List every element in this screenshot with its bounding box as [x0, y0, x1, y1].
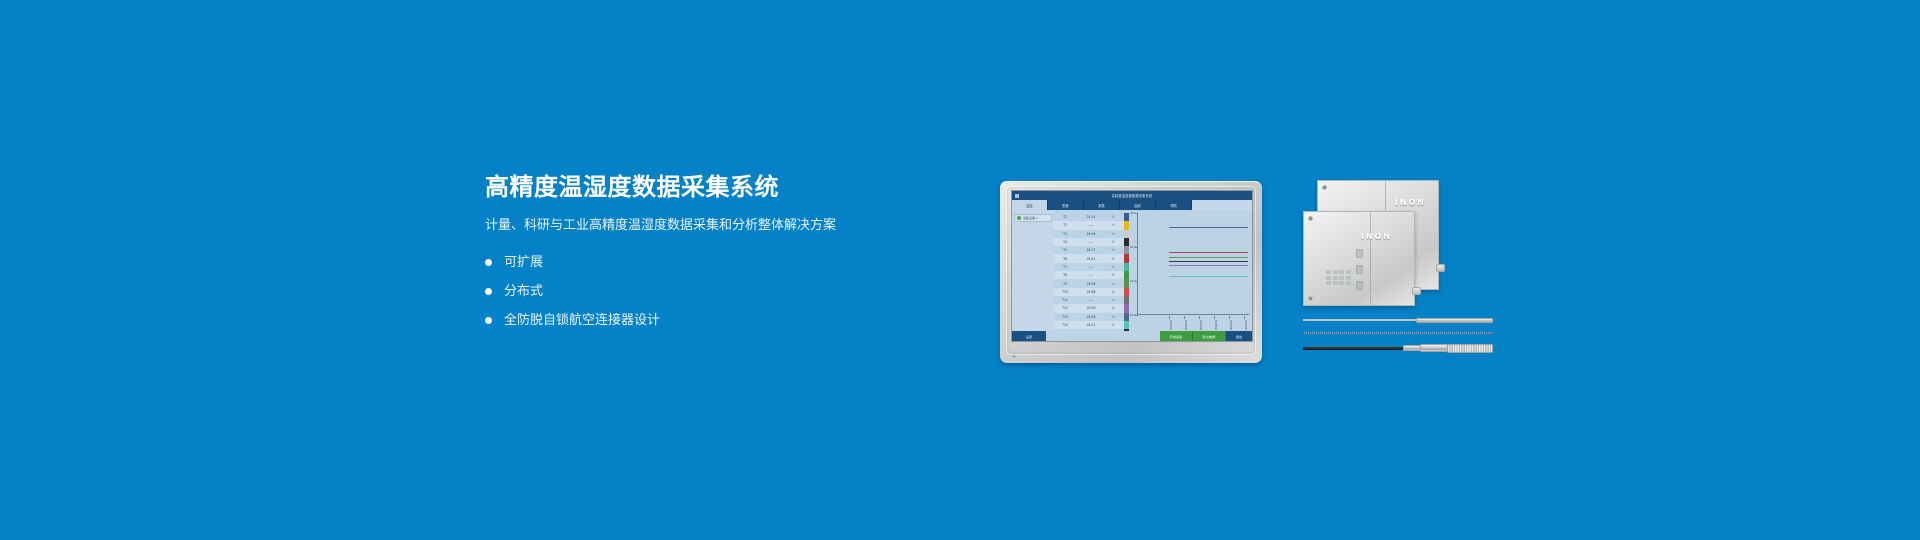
cell-value: ----	[1076, 240, 1106, 244]
cell-unit: ℃	[1106, 298, 1120, 302]
chart-y-axis	[1137, 213, 1138, 315]
chart-x-tick-label: 10:40:00	[1199, 320, 1202, 330]
app-button-bar: 设置 开始采集 导出数据 退出	[1012, 331, 1252, 341]
module-port-icon	[1356, 265, 1363, 274]
feature-bullet-1: 可扩展	[485, 256, 955, 269]
cell-channel: T6	[1054, 257, 1076, 261]
table-row[interactable]: T1024.88℃	[1054, 288, 1124, 296]
cell-unit: ℃	[1106, 265, 1120, 269]
cell-unit: ℃	[1106, 315, 1120, 319]
module-screw-icon	[1322, 185, 1327, 190]
chart-x-tick-label: 10:50:00	[1229, 320, 1232, 330]
probe-cable	[1303, 319, 1423, 321]
table-row[interactable]: T924.98℃	[1054, 279, 1124, 287]
module-screw-icon	[1308, 296, 1313, 301]
probe-cable	[1303, 347, 1407, 350]
connector-collar	[1403, 345, 1421, 351]
start-acquisition-button[interactable]: 开始采集	[1160, 331, 1193, 341]
bullet-dot-icon	[485, 259, 492, 266]
cell-value: 24.28	[1076, 315, 1106, 319]
table-row[interactable]: T1324.28℃	[1054, 313, 1124, 321]
chart-x-tick	[1169, 316, 1170, 319]
table-row[interactable]: T524.72℃	[1054, 246, 1124, 254]
tab-monitor[interactable]: 监控	[1012, 200, 1048, 210]
cell-unit: ℃	[1106, 282, 1120, 286]
module-connector-icon	[1412, 287, 1421, 295]
device-tree-panel: 采集设备-1	[1012, 210, 1054, 331]
chart-series-line	[1169, 276, 1248, 277]
industrial-panel-pc: 高精度温湿度数据采集系统 监控 配置 报表 曲线 帮助 采集设备-1 T125.…	[1000, 181, 1262, 363]
cell-value: 25.31	[1076, 215, 1106, 219]
probe-cable	[1303, 332, 1493, 334]
app-window-title: 高精度温湿度数据采集系统	[1012, 193, 1252, 198]
table-row[interactable]: T7----℃	[1054, 263, 1124, 271]
chart-y-tick	[1135, 281, 1138, 282]
chart-series-line	[1169, 265, 1248, 266]
chart-series-line	[1169, 257, 1248, 258]
device-tree-label: 采集设备-1	[1023, 216, 1038, 220]
cell-unit: ℃	[1106, 257, 1120, 261]
cell-value: 24.99	[1076, 232, 1106, 236]
connector-body	[1420, 344, 1448, 352]
button-bar-spacer	[1046, 331, 1160, 341]
chart-x-tick-label: 10:45:00	[1214, 320, 1217, 330]
table-row[interactable]: T11----℃	[1054, 296, 1124, 304]
module-brand-rear: INON	[1395, 198, 1426, 207]
bullet-dot-icon	[485, 317, 492, 324]
table-row[interactable]: T625.41℃	[1054, 254, 1124, 262]
device-tree-item[interactable]: 采集设备-1	[1014, 214, 1052, 222]
cell-channel: T11	[1054, 298, 1076, 302]
cell-unit: ℃	[1106, 323, 1120, 327]
chart-series-line	[1169, 261, 1248, 262]
cell-unit: ℃	[1106, 306, 1120, 310]
module-screw-icon	[1308, 216, 1313, 221]
probe-aviation-connector	[1303, 343, 1493, 353]
module-connector-icon	[1436, 264, 1445, 272]
acquisition-module-front: INON	[1303, 211, 1415, 306]
chart-x-tick-label: 10:30:00	[1169, 320, 1172, 330]
cell-channel: T5	[1054, 248, 1076, 252]
tab-help[interactable]: 帮助	[1156, 200, 1192, 210]
table-row[interactable]: T4----℃	[1054, 238, 1124, 246]
cell-channel: T12	[1054, 306, 1076, 310]
cell-unit: ℃	[1106, 240, 1120, 244]
connector-knurled-nut	[1447, 344, 1493, 353]
cell-unit: ℃	[1106, 290, 1120, 294]
cell-channel: T14	[1054, 323, 1076, 327]
cell-value: ----	[1076, 298, 1106, 302]
tab-curve[interactable]: 曲线	[1120, 200, 1156, 210]
feature-bullet-3: 全防脱自锁航空连接器设计	[485, 314, 955, 327]
probe-blue-rod	[1303, 331, 1493, 336]
table-row[interactable]: T1225.90℃	[1054, 304, 1124, 312]
bullet-dot-icon	[485, 288, 492, 295]
cell-unit: ℃	[1106, 223, 1120, 227]
chart-x-tick	[1244, 316, 1245, 319]
table-row[interactable]: T1424.11℃	[1054, 321, 1124, 329]
tab-strip-filler	[1192, 200, 1252, 210]
cell-unit: ℃	[1106, 215, 1120, 219]
cell-channel: T7	[1054, 265, 1076, 269]
chart-y-tick	[1135, 315, 1138, 316]
cell-unit: ℃	[1106, 248, 1120, 252]
trend-chart: 25.525.024.524.010:30:0010:35:0010:40:00…	[1129, 210, 1252, 331]
feature-bullet-label: 全防脱自锁航空连接器设计	[504, 314, 660, 327]
chart-y-tick	[1135, 247, 1138, 248]
cell-unit: ℃	[1106, 273, 1120, 277]
feature-bullet-label: 分布式	[504, 285, 543, 298]
cell-unit: ℃	[1106, 232, 1120, 236]
cell-channel: T8	[1054, 273, 1076, 277]
module-port-icon	[1356, 281, 1363, 290]
tab-config[interactable]: 配置	[1048, 200, 1084, 210]
hero-subtitle: 计量、科研与工业高精度温湿度数据采集和分析整体解决方案	[485, 216, 955, 236]
chart-x-tick-label: 10:55:00	[1244, 320, 1247, 330]
table-row[interactable]: T8----℃	[1054, 271, 1124, 279]
exit-button[interactable]: 退出	[1226, 331, 1252, 341]
cell-channel: T2	[1054, 223, 1076, 227]
module-seam	[1370, 212, 1371, 305]
chart-y-tick	[1135, 213, 1138, 214]
chart-x-axis	[1137, 314, 1249, 315]
probe-steel-tip	[1416, 318, 1493, 323]
probe-armored-sensor	[1303, 317, 1493, 323]
cell-value: ----	[1076, 273, 1106, 277]
cell-channel: T9	[1054, 282, 1076, 286]
feature-bullet-list: 可扩展 分布式 全防脱自锁航空连接器设计	[485, 256, 955, 327]
table-row[interactable]: T324.99℃	[1054, 230, 1124, 238]
app-body: 采集设备-1 T125.31℃T2----℃T324.99℃T4----℃T52…	[1012, 210, 1252, 331]
app-title-bar: 高精度温湿度数据采集系统	[1012, 191, 1252, 200]
module-port-icon	[1356, 249, 1363, 258]
cell-channel: T3	[1054, 232, 1076, 236]
chart-x-tick	[1184, 316, 1185, 319]
chart-series-line	[1169, 227, 1248, 228]
cell-channel: T13	[1054, 315, 1076, 319]
cell-value: 24.72	[1076, 248, 1106, 252]
hero-banner: 高精度温湿度数据采集系统 计量、科研与工业高精度温湿度数据采集和分析整体解决方案…	[0, 0, 1920, 540]
app-tab-strip: 监控 配置 报表 曲线 帮助	[1012, 200, 1252, 210]
cell-value: 24.98	[1076, 282, 1106, 286]
chart-x-tick	[1199, 316, 1200, 319]
module-label-grid	[1326, 270, 1351, 285]
chart-series-line	[1169, 252, 1248, 253]
cell-channel: T4	[1054, 240, 1076, 244]
chart-x-tick	[1214, 316, 1215, 319]
chart-x-tick	[1229, 316, 1230, 319]
table-row[interactable]: T2----℃	[1054, 221, 1124, 229]
cell-value: 25.90	[1076, 306, 1106, 310]
cell-value: 24.11	[1076, 323, 1106, 327]
hero-text-block: 高精度温湿度数据采集系统 计量、科研与工业高精度温湿度数据采集和分析整体解决方案…	[485, 172, 955, 343]
feature-bullet-label: 可扩展	[504, 256, 543, 269]
tablet-corner-mark: ✦	[1011, 354, 1021, 360]
module-brand-front: INON	[1361, 232, 1392, 241]
cell-value: 25.41	[1076, 257, 1106, 261]
chart-x-tick-label: 10:35:00	[1184, 320, 1187, 330]
cell-channel: T1	[1054, 215, 1076, 219]
tab-report[interactable]: 报表	[1084, 200, 1120, 210]
cell-value: ----	[1076, 265, 1106, 269]
settings-button[interactable]: 设置	[1012, 331, 1046, 341]
status-indicator-icon	[1017, 216, 1021, 220]
cell-value: 24.88	[1076, 290, 1106, 294]
software-screen: 高精度温湿度数据采集系统 监控 配置 报表 曲线 帮助 采集设备-1 T125.…	[1011, 190, 1253, 342]
export-data-button[interactable]: 导出数据	[1193, 331, 1226, 341]
feature-bullet-2: 分布式	[485, 285, 955, 298]
channel-table: T125.31℃T2----℃T324.99℃T4----℃T524.72℃T6…	[1054, 210, 1124, 331]
page-title: 高精度温湿度数据采集系统	[485, 172, 955, 202]
cell-value: ----	[1076, 223, 1106, 227]
cell-channel: T10	[1054, 290, 1076, 294]
table-row[interactable]: T125.31℃	[1054, 213, 1124, 221]
